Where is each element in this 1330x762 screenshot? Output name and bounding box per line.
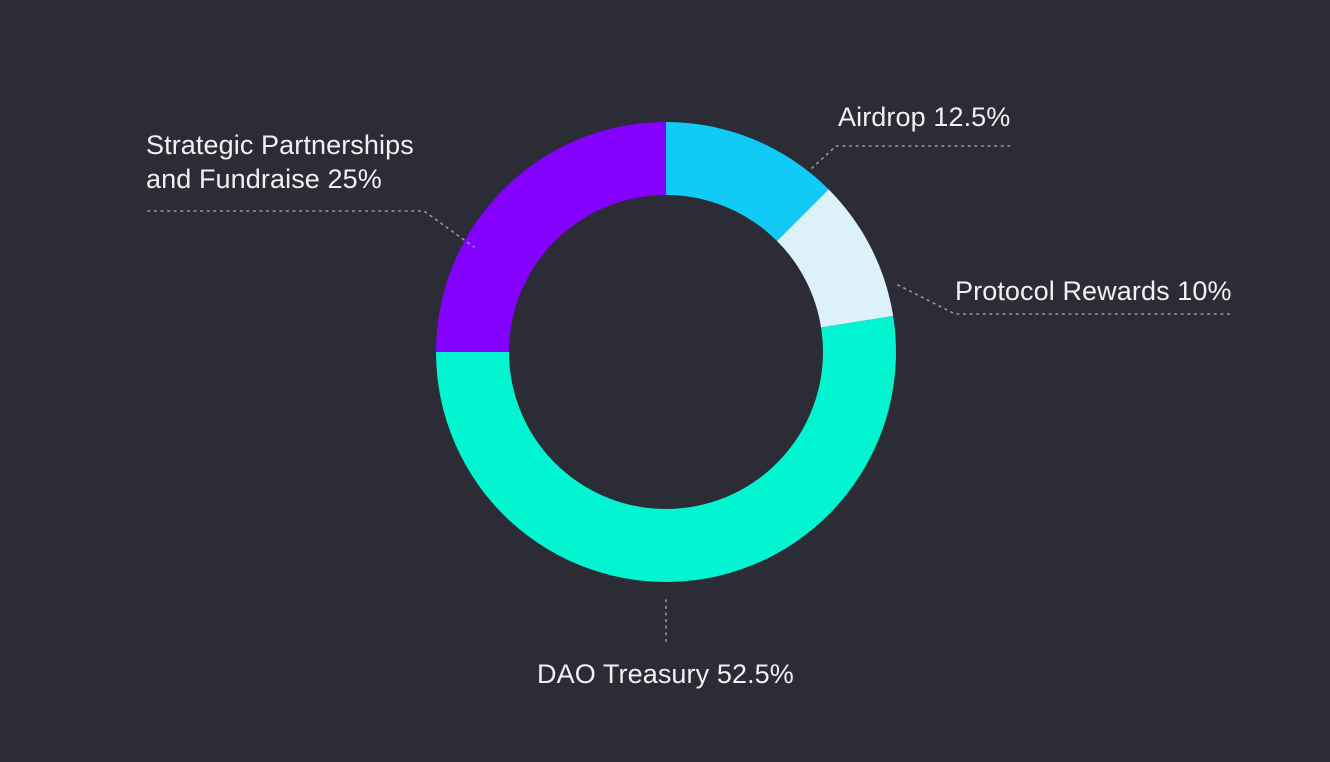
leader-line-strategic	[148, 211, 474, 247]
donut-chart: Strategic Partnershipsand Fundraise 25% …	[0, 0, 1330, 762]
slice-label-airdrop: Airdrop 12.5%	[838, 100, 1010, 134]
donut-slices	[436, 122, 896, 582]
slice-label-protocol-rewards: Protocol Rewards 10%	[955, 274, 1232, 308]
donut-slice-strategic-partnerships[interactable]	[436, 122, 666, 352]
donut-chart-canvas	[0, 0, 1330, 762]
slice-label-strategic-line1: Strategic Partnerships	[146, 130, 414, 160]
slice-label-strategic-line2: and Fundraise 25%	[146, 164, 382, 194]
leader-line-airdrop	[812, 146, 1010, 168]
donut-slice-dao-treasury[interactable]	[436, 316, 896, 582]
slice-label-strategic-partnerships: Strategic Partnershipsand Fundraise 25%	[146, 128, 414, 196]
slice-label-dao-treasury: DAO Treasury 52.5%	[537, 657, 794, 691]
